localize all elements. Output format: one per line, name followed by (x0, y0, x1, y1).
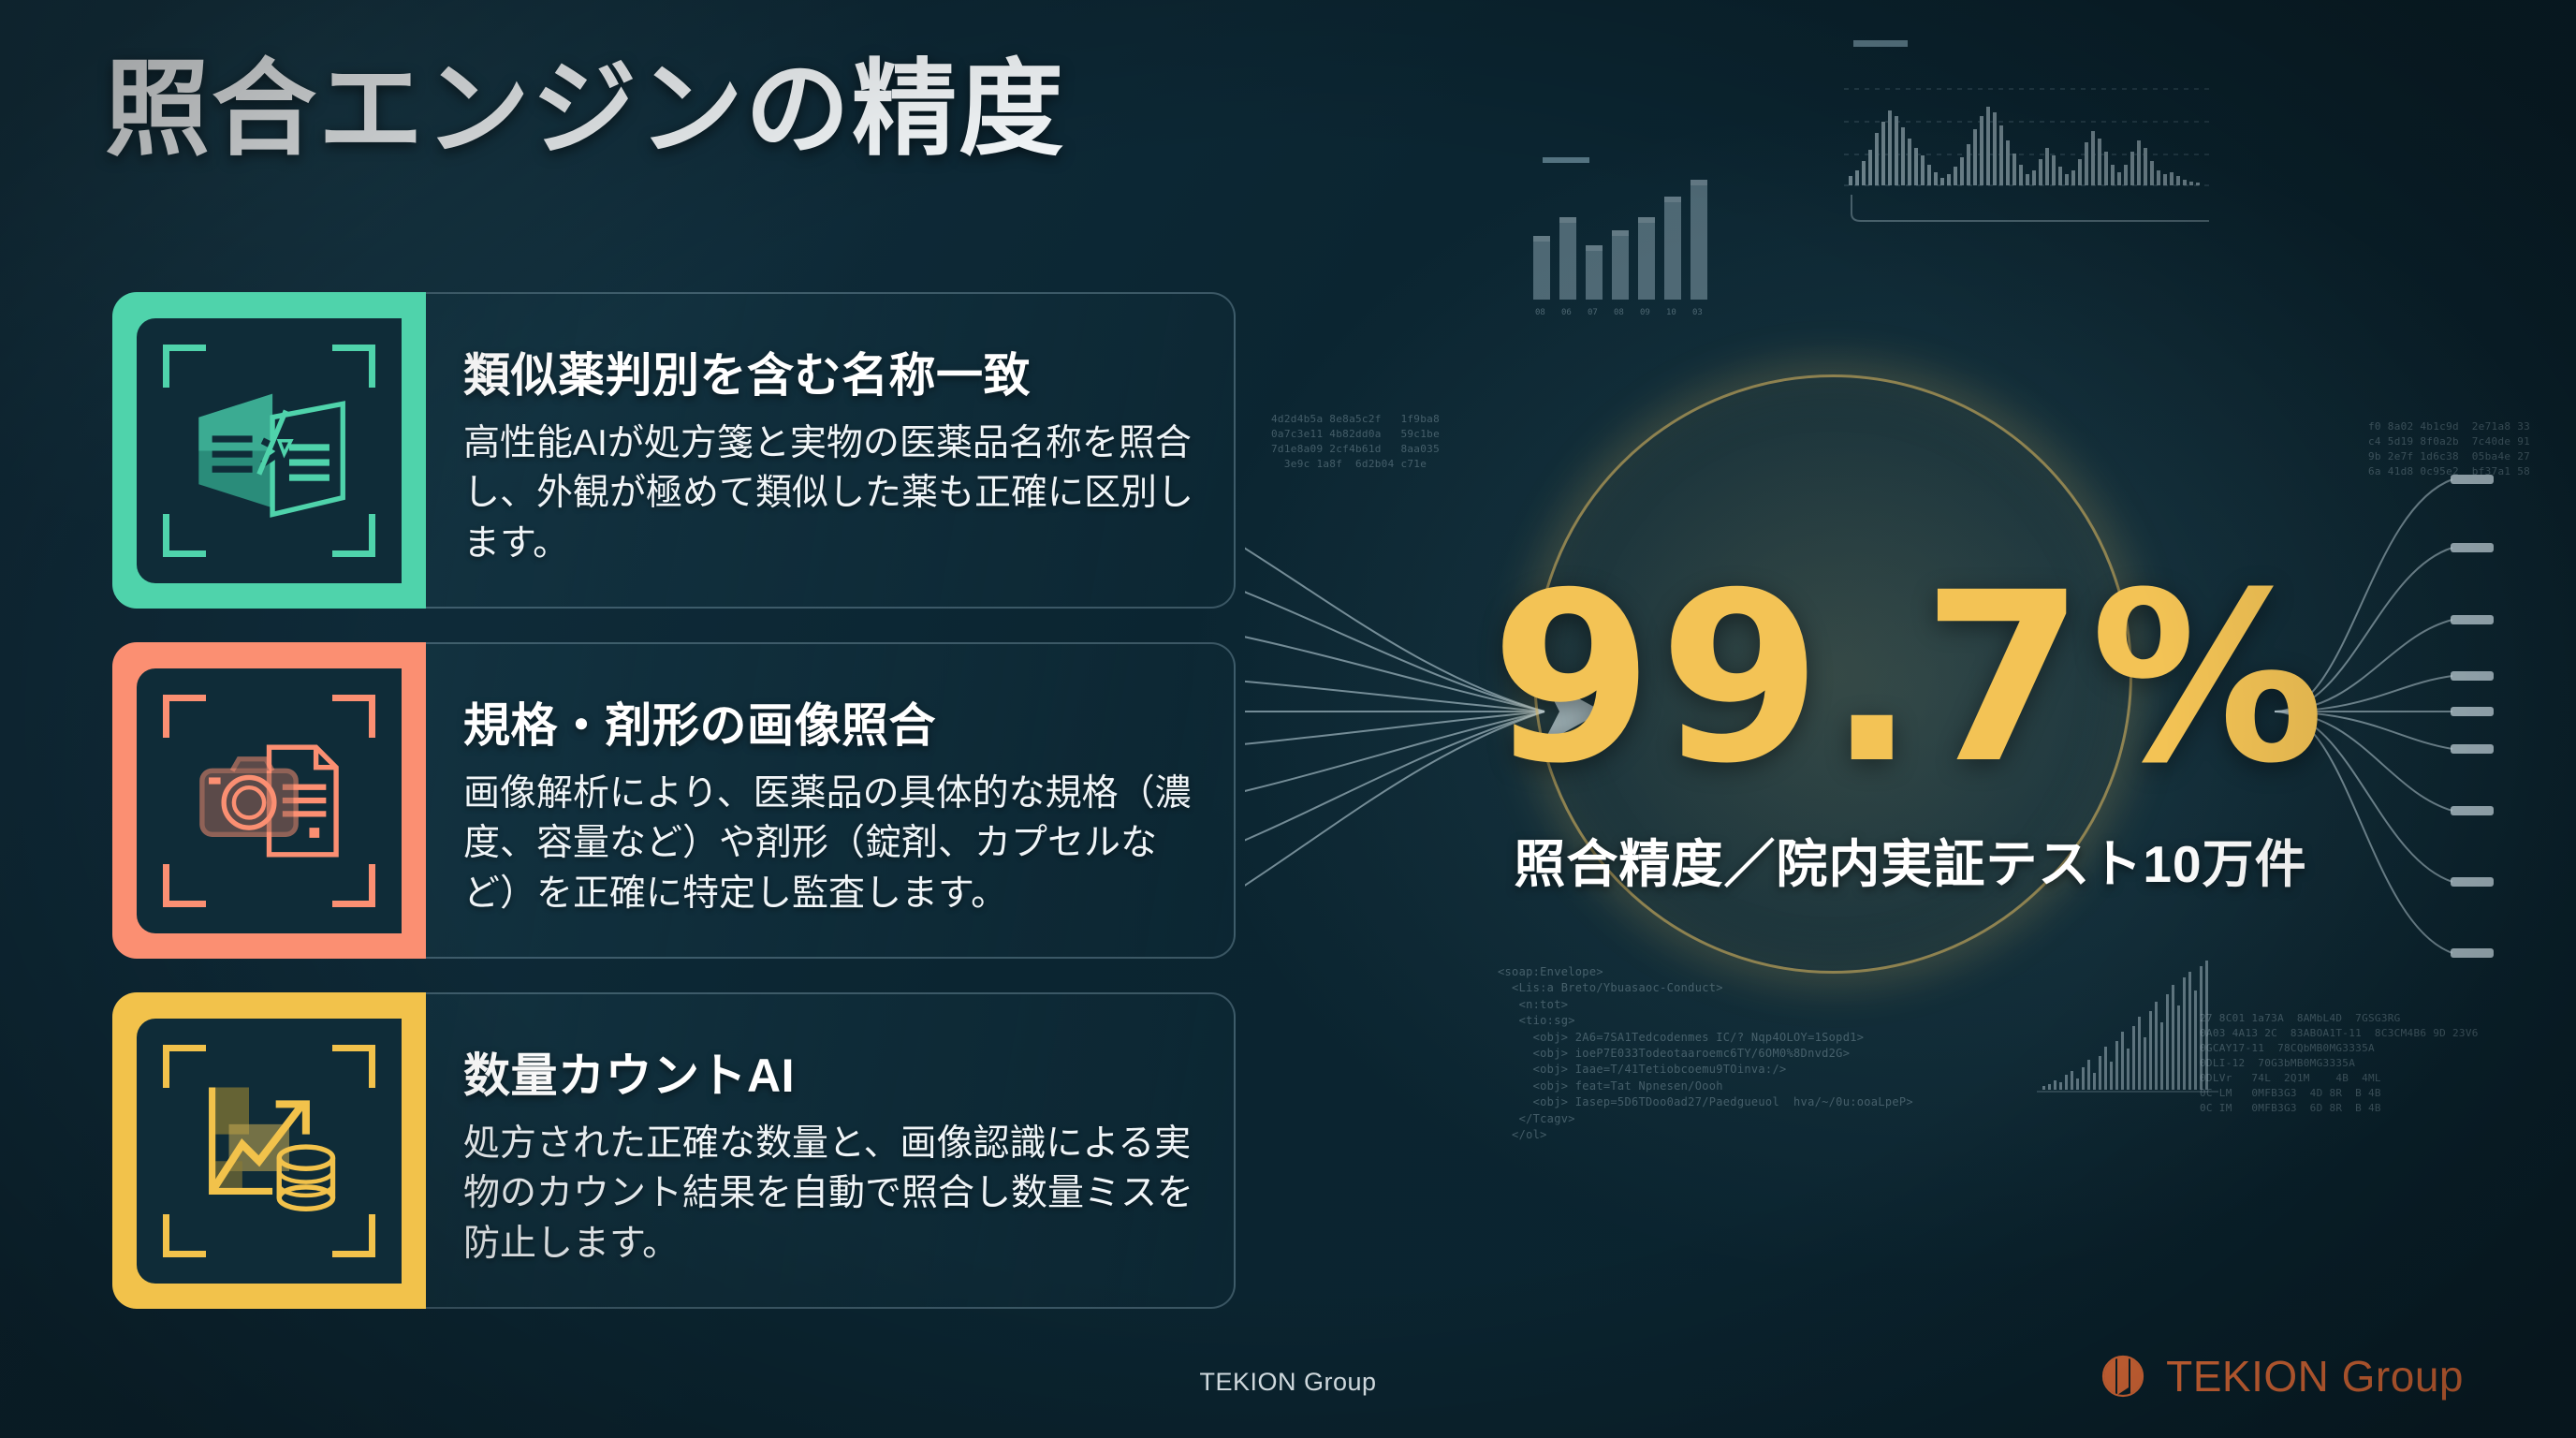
svg-text:07: 07 (1588, 308, 1598, 317)
decorative-code-4: 27 8C01 1a73A 8AMbL4D 7GSG3RG 0A03 4A13 … (2200, 1011, 2479, 1116)
decorative-code-3: <soap:Envelope> <Lis:a Breto/Ybuasaoc-Co… (1498, 964, 1913, 1143)
feature-card-list: 類似薬判別を含む名称一致 高性能AIが処方箋と実物の医薬品名称を照合し、外観が極… (112, 292, 1236, 1309)
svg-text:06: 06 (1561, 308, 1572, 317)
camera-document-scan-icon (185, 717, 353, 885)
card-2-icon-frame (112, 642, 426, 959)
feature-card-1[interactable]: 類似薬判別を含む名称一致 高性能AIが処方箋と実物の医薬品名称を照合し、外観が極… (112, 292, 1236, 609)
svg-text:08: 08 (1614, 308, 1624, 317)
card-2-icon-panel (137, 668, 402, 933)
card-2-title: 規格・剤形の画像照合 (463, 688, 1196, 756)
card-3-description: 処方された正確な数量と、画像認識による実物のカウント結果を自動で照合し数量ミスを… (463, 1119, 1196, 1268)
stat-visual-panel: 080607 080910 03 (1245, 0, 2576, 1438)
decorative-bar-chart-left: 080607 080910 03 (1533, 157, 1707, 317)
card-2-description: 画像解析により、医薬品の具体的な規格（濃度、容量など）や剤形（錠剤、カプセルなど… (463, 769, 1196, 917)
svg-text:10: 10 (1666, 308, 1676, 317)
accuracy-stat: 99.7% 照合精度／院内実証テスト10万件 (1245, 562, 2576, 897)
card-1-icon-panel (137, 318, 402, 583)
accuracy-value: 99.7% (1245, 562, 2576, 796)
svg-text:08: 08 (1535, 308, 1545, 317)
card-1-description: 高性能AIが処方箋と実物の医薬品名称を照合し、外観が極めて類似した薬も正確に区別… (463, 418, 1196, 567)
svg-text:09: 09 (1640, 308, 1650, 317)
feature-card-3[interactable]: 数量カウントAI 処方された正確な数量と、画像認識による実物のカウント結果を自動… (112, 992, 1236, 1309)
card-2-body: 規格・剤形の画像照合 画像解析により、医薬品の具体的な規格（濃度、容量など）や剤… (426, 642, 1236, 959)
feature-card-2[interactable]: 規格・剤形の画像照合 画像解析により、医薬品の具体的な規格（濃度、容量など）や剤… (112, 642, 1236, 959)
decorative-histogram-top (1844, 40, 2209, 221)
card-1-title: 類似薬判別を含む名称一致 (463, 338, 1196, 405)
accuracy-caption: 照合精度／院内実証テスト10万件 (1245, 822, 2576, 897)
document-compare-scan-icon (185, 367, 353, 535)
page-title: 照合エンジンの精度 (105, 49, 1065, 172)
card-3-title: 数量カウントAI (463, 1038, 1196, 1106)
decorative-code-2: f0 8a02 4b1c9d 2e71a8 33 c4 5d19 8f0a2b … (2368, 419, 2530, 479)
tekion-n-mark-icon (2097, 1350, 2149, 1402)
card-1-icon-frame (112, 292, 426, 609)
svg-text:03: 03 (1692, 308, 1703, 317)
card-1-body: 類似薬判別を含む名称一致 高性能AIが処方箋と実物の医薬品名称を照合し、外観が極… (426, 292, 1236, 609)
logo-wordmark: TEKION Group (2166, 1351, 2464, 1401)
growth-chart-coins-scan-icon (185, 1067, 353, 1235)
card-3-icon-panel (137, 1019, 402, 1284)
card-3-body: 数量カウントAI 処方された正確な数量と、画像認識による実物のカウント結果を自動… (426, 992, 1236, 1309)
tekion-group-logo: TEKION Group (2097, 1350, 2464, 1402)
decorative-histogram-bottom (2037, 961, 2218, 1092)
card-3-icon-frame (112, 992, 426, 1309)
decorative-code-1: 4d2d4b5a 8e8a5c2f 1f9ba8 0a7c3e11 4b82dd… (1271, 412, 1440, 472)
